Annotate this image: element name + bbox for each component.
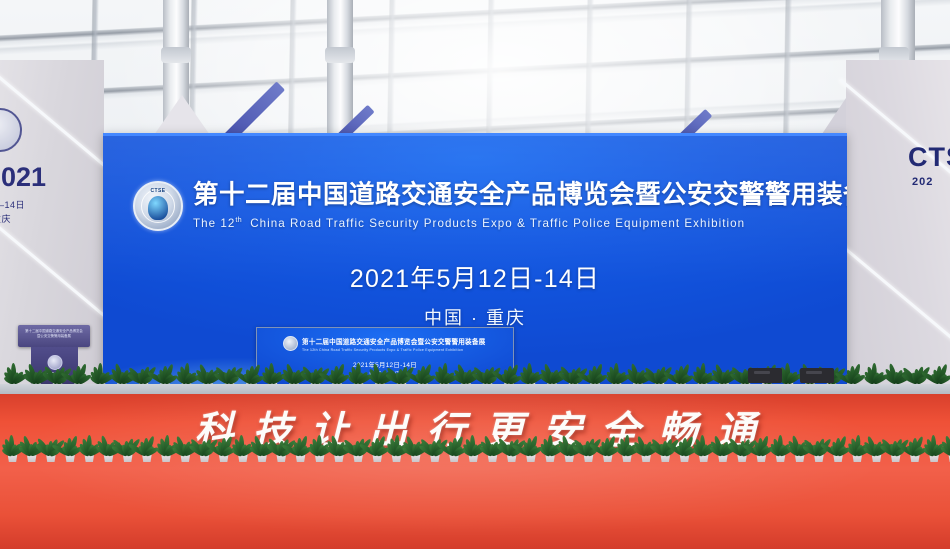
wall-emblem-left bbox=[0, 108, 22, 152]
podium-mini-screen: 第十二届中国道路交通安全产品博览会暨公安交警警用装备展 The 12th Chi… bbox=[256, 327, 514, 390]
mini-title-en: The 12th China Road Traffic Security Pro… bbox=[302, 348, 485, 352]
banner-title-cn: 第十二届中国道路交通安全产品博览会暨公安交警警用装备展 bbox=[193, 182, 847, 210]
wall-date-left: 12—14日 bbox=[0, 198, 25, 211]
banner-title-en-before: The 12 bbox=[193, 217, 235, 230]
lectern-emblem-icon bbox=[47, 355, 62, 370]
banner-date-block: 2021年5月12日-14日 中国 · 重庆 bbox=[103, 259, 847, 330]
lectern-body: CTSE 2021 bbox=[31, 347, 78, 387]
wall-diagonal-stripe bbox=[831, 236, 950, 348]
lectern-top-panel: 第十二届中国道路交通安全产品博览会 暨公安交警警用装备展 bbox=[18, 325, 90, 347]
stage-speaker-right bbox=[800, 368, 834, 383]
mini-emblem-icon bbox=[283, 336, 298, 351]
banner-title-en: The 12th China Road Traffic Security Pro… bbox=[193, 215, 847, 230]
wall-year-left: 2021 bbox=[0, 162, 46, 193]
banner-title-block: 第十二届中国道路交通安全产品博览会暨公安交警警用装备展 The 12th Chi… bbox=[193, 182, 847, 229]
mini-title-cn: 第十二届中国道路交通安全产品博览会暨公安交警警用装备展 bbox=[302, 336, 485, 346]
banner-title-row: CTSE 第十二届中国道路交通安全产品博览会暨公安交警警用装备展 The 12t… bbox=[133, 181, 823, 231]
wall-city-left: 重庆 bbox=[0, 212, 11, 225]
mini-date: 2021年5月12日-14日 bbox=[257, 360, 513, 369]
wall-brand-right: CTS bbox=[908, 142, 950, 173]
backdrop-wall-right: CTS 202 bbox=[846, 60, 950, 390]
lectern: 第十二届中国道路交通安全产品博览会 暨公安交警警用装备展 CTSE 2021 bbox=[18, 325, 90, 387]
lectern-front-text: CTSE 2021 bbox=[31, 372, 78, 378]
banner-title-en-after: China Road Traffic Security Products Exp… bbox=[250, 217, 745, 230]
banner-title-ordinal-sup: th bbox=[235, 215, 241, 224]
lectern-top-line-2: 暨公安交警警用装备展 bbox=[37, 334, 71, 338]
lectern-top-text: 第十二届中国道路交通安全产品博览会 暨公安交警警用装备展 bbox=[24, 329, 84, 339]
wall-diagonal-stripe bbox=[0, 210, 111, 322]
mini-screen-header: 第十二届中国道路交通安全产品博览会暨公安交警警用装备展 The 12th Chi… bbox=[283, 336, 485, 352]
wall-year-right: 202 bbox=[912, 176, 933, 188]
ctse-emblem-icon: CTSE bbox=[133, 181, 183, 231]
mini-title-block: 第十二届中国道路交通安全产品博览会暨公安交警警用装备展 The 12th Chi… bbox=[302, 336, 485, 352]
lectern-top-line-1: 第十二届中国道路交通安全产品博览会 bbox=[25, 329, 83, 333]
stage-speaker-left bbox=[748, 368, 782, 383]
mini-location: 中国 · 重庆 bbox=[257, 370, 513, 378]
banner-date: 2021年5月12日-14日 bbox=[103, 259, 847, 295]
carpet-slogan: 科技让出行更安全畅通 bbox=[0, 400, 950, 456]
emblem-label: CTSE bbox=[135, 188, 181, 194]
screenshot-root: 2021 12—14日 重庆 CTS 202 CTSE 第十二届中国道路交通安全… bbox=[0, 0, 950, 549]
